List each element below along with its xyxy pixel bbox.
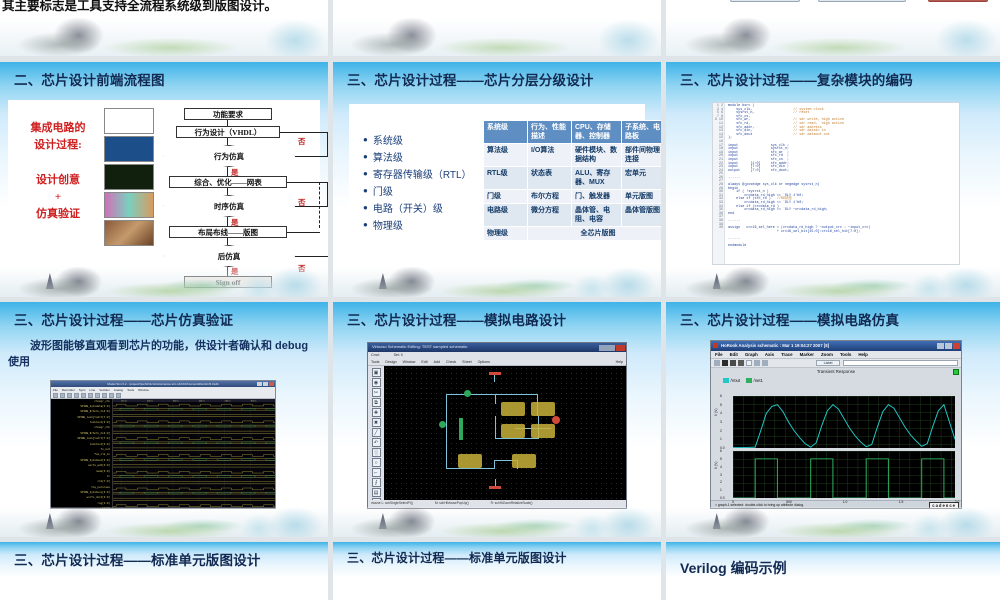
flow-decision-post-sim: 后仿真 <box>163 245 295 267</box>
signal-name[interactable]: fsm_clk_in <box>94 453 110 456</box>
split-icon[interactable] <box>754 360 760 366</box>
signal-name[interactable]: reg[2:0] <box>98 502 110 505</box>
wire-name-icon[interactable]: ⨍ <box>372 478 381 487</box>
toolbar[interactable] <box>51 392 275 399</box>
signal-name[interactable]: SPIRE_lockjtsdrt[7:0] <box>77 437 110 440</box>
city-skyline-decor <box>666 18 1000 56</box>
signal-name[interactable]: locktest[3:0] <box>90 443 110 446</box>
y-axis-label-top: V (V) <box>714 408 718 416</box>
marker-icon[interactable] <box>116 393 121 398</box>
slide-title: 三、芯片设计过程——复杂模块的编码 <box>680 69 992 89</box>
svg-text:300 ns: 300 ns <box>173 401 179 403</box>
bullet-item: 系统级 <box>363 132 472 149</box>
flow-decision-behavioral-sim: 行为仿真 <box>163 145 295 167</box>
cycle-icon[interactable] <box>762 360 768 366</box>
svg-text:200 ns: 200 ns <box>147 401 153 403</box>
slide-thumbnail-verilog-example[interactable]: Verilog 编码示例 <box>666 542 1000 600</box>
bullet-item: 寄存器传输级（RTL） <box>363 166 472 183</box>
y-tick-label: 3 <box>720 473 722 477</box>
slide-title: Verilog 编码示例 <box>680 558 787 578</box>
menu-file[interactable]: File <box>715 352 723 358</box>
partial-slide-3[interactable] <box>666 0 1000 56</box>
menu-design[interactable]: Design <box>385 360 396 364</box>
thumb-gate-schematic <box>104 136 154 162</box>
cmd-label: Cmd: <box>371 353 380 358</box>
button-stub-1[interactable] <box>730 0 800 2</box>
slide-title: 二、芯片设计前端流程图 <box>14 69 320 89</box>
data-series-net1 <box>733 459 955 498</box>
legend-swatch-net1 <box>746 378 752 383</box>
menu-window[interactable]: Window <box>138 388 149 392</box>
y-tick-label: 0.0 <box>720 496 725 500</box>
slide-title: 三、芯片设计过程——芯片分层分级设计 <box>347 69 653 89</box>
table-row: 算法级I/O算法 硬件模块、数据结构部件间物理连接 <box>484 144 662 167</box>
city-skyline-decor <box>0 18 328 56</box>
signal-name[interactable]: SPIRE_byteboot[3:0] <box>80 459 110 462</box>
slide-thumbnail-analog-sim[interactable]: 三、芯片设计过程——模拟电路仿真 HoRook Analysis schemat… <box>666 302 1000 537</box>
slide-title: 三、芯片设计过程——模拟电路设计 <box>347 309 653 329</box>
table-row: 电路级微分方程 晶体管、电阻、电容晶体管版图 <box>484 204 662 227</box>
zoom-icon[interactable]: ◉ <box>372 378 381 387</box>
signal-name[interactable]: Tx_out <box>101 448 110 451</box>
menu-bar[interactable]: Tools Design Window Edit Add Check Sheet… <box>368 359 626 366</box>
menu-file[interactable]: File <box>53 388 58 392</box>
button-stub-accent[interactable] <box>928 0 988 2</box>
copy-icon[interactable]: ⧉ <box>372 398 381 407</box>
menu-add[interactable]: Add <box>434 360 440 364</box>
data-series-Vout <box>733 405 955 448</box>
city-skyline-decor <box>0 507 328 537</box>
menu-sync[interactable]: Sync <box>79 388 86 392</box>
menu-help[interactable]: Help <box>616 360 623 364</box>
y-axis-label-bottom: V (V) <box>714 461 718 469</box>
window-controls[interactable] <box>257 382 274 386</box>
device-nmos-1 <box>501 424 525 438</box>
plot-legend: /Vout /net1 <box>711 376 961 384</box>
svg-text:600 ns: 600 ns <box>251 401 257 403</box>
legend-swatch-vout <box>723 378 729 383</box>
flow-node-place-route: 布局布线——版图 <box>169 226 287 238</box>
net1-curve <box>733 451 955 498</box>
red-caption-line1: 集成电路的 <box>16 120 100 137</box>
slide-body: Virtuoso Schematic Editing: TEST sampled… <box>333 336 661 511</box>
flow-decision-timing-sim: 时序仿真 <box>163 195 295 217</box>
open-icon[interactable] <box>53 393 58 398</box>
thumb-netlist <box>104 164 154 190</box>
tool-palette[interactable]: ▣◉✂⧉✚✖╱↶░○⌐⨍▤◎▭⌕ <box>368 366 384 500</box>
virtuoso-schematic-window[interactable]: Virtuoso Schematic Editing: TEST sampled… <box>367 342 627 509</box>
table-row: 系统级 行为、性能描述 CPU、存储器、控制器 子系统、电路板 <box>484 121 662 144</box>
signal-name[interactable]: SPIRE_lockjtsdrt[7:0] <box>77 416 110 419</box>
menu-line[interactable]: Line <box>90 388 96 392</box>
cut-icon[interactable] <box>67 393 72 398</box>
slide-thumbnail-verilog-code[interactable]: 三、芯片设计过程——复杂模块的编码 1 2 3 4 5 6 7 8 9 10 1… <box>666 62 1000 297</box>
strip-icon[interactable] <box>738 360 744 366</box>
maximize-icon[interactable] <box>263 382 268 386</box>
red-caption-line3: 设计创意 <box>16 172 100 189</box>
slide-thumbnail-grid: 其主要标志是工具支持全流程系统级到版图设计。 二、芯片设计前端流程图 集成电路的… <box>0 0 1000 600</box>
wire <box>446 468 494 469</box>
paste-icon[interactable] <box>81 393 86 398</box>
signal-name[interactable]: tlq_parerase <box>91 486 110 489</box>
port-output <box>552 416 560 424</box>
window-titlebar[interactable]: Virtuoso Schematic Editing: TEST sampled… <box>368 343 626 352</box>
cadence-waveform-window[interactable]: HoRook Analysis schematic : Mar 1 19:04:… <box>710 340 962 509</box>
y-tick-label: 6 <box>720 394 722 398</box>
signal-name[interactable]: clk[7:0] <box>98 480 110 483</box>
wire <box>495 438 539 439</box>
svg-text:400 ns: 400 ns <box>199 401 205 403</box>
delete-icon[interactable]: ✖ <box>372 418 381 427</box>
minimize-maximize-icon[interactable] <box>599 345 615 351</box>
slide-body: 波形图能够直观看到芯片的功能，供设计者确认和 debug 使用 Model Si… <box>0 336 328 511</box>
partial-slide-body-text: 其主要标志是工具支持全流程系统级到版图设计。 <box>2 0 277 14</box>
toolbar[interactable]: Label <box>711 359 961 368</box>
thumbnail-strip <box>104 108 154 248</box>
menu-tools[interactable]: Tools <box>371 360 379 364</box>
menu-help[interactable]: Help <box>858 352 868 358</box>
red-caption-line2: 设计过程: <box>16 137 100 154</box>
grid-icon[interactable]: ░ <box>372 448 381 457</box>
menu-options[interactable]: Options <box>478 360 490 364</box>
code-listing-panel: 1 2 3 4 5 6 7 8 9 10 11 12 13 14 15 16 1… <box>712 102 960 265</box>
instance-icon[interactable]: ▤ <box>372 488 381 497</box>
signal-name[interactable]: locktest[3:0] <box>90 421 110 424</box>
slide-thumbnail-hierarchy-table[interactable]: 三、芯片设计过程——芯片分层分级设计 系统级 算法级 寄存器传输级（RTL） 门… <box>333 62 661 297</box>
wire <box>495 394 496 404</box>
run-icon[interactable] <box>102 393 107 398</box>
y-tick-label: 5 <box>720 457 722 461</box>
svg-text:100 ns: 100 ns <box>121 401 127 403</box>
flow-node-behavioral-design: 行为设计（VHDL） <box>176 126 280 138</box>
signal-name[interactable]: SPIRE_R/bclk_CLK:0] <box>80 410 110 413</box>
slide-thumbnail-chip-sim-verify[interactable]: 三、芯片设计过程——芯片仿真验证 波形图能够直观看到芯片的功能，供设计者确认和 … <box>0 302 328 537</box>
slide-title: 三、芯片设计过程——标准单元版图设计 <box>14 549 320 569</box>
device-resistor <box>459 418 463 440</box>
menu-edit[interactable]: Edit <box>730 352 738 358</box>
port-net <box>464 390 471 397</box>
menu-axis[interactable]: Axis <box>765 352 774 358</box>
bullet-item: 物理级 <box>363 217 472 234</box>
design-level-bullets: 系统级 算法级 寄存器传输级（RTL） 门级 电路（开关）级 物理级 <box>363 132 472 234</box>
close-icon[interactable] <box>269 382 274 386</box>
slide-title: 三、芯片设计过程——模拟电路仿真 <box>680 309 992 329</box>
modelsim-window[interactable]: Model Sim 6.2 - /project/hpc/t2/t1c/sim/… <box>50 380 276 509</box>
signal-name[interactable]: SPIRE_bytedata[3:0] <box>80 405 110 408</box>
menu-tools[interactable]: Tools <box>127 388 134 392</box>
curve-icon[interactable] <box>722 360 728 366</box>
slide-thumbnail-std-cell-layout-1[interactable]: 三、芯片设计过程——标准单元版图设计 <box>0 542 328 600</box>
y-tick-label: 2 <box>720 429 722 433</box>
x-tick-label: 500 <box>786 500 792 504</box>
window-controls[interactable] <box>937 343 960 349</box>
menu-vectilon[interactable]: Vectilon <box>99 388 110 392</box>
city-skyline-decor <box>666 267 1000 297</box>
line-icon[interactable]: ╱ <box>372 428 381 437</box>
menu-marker[interactable]: Marker <box>800 352 814 358</box>
abstraction-level-table: 系统级 行为、性能描述 CPU、存储器、控制器 子系统、电路板 算法级I/O算法… <box>483 120 661 241</box>
label-input[interactable] <box>843 360 958 366</box>
signal-name[interactable]: SPIRE_bytebuss[3:0] <box>80 491 110 494</box>
bullet-item: 算法级 <box>363 149 472 166</box>
print-icon[interactable] <box>714 360 720 366</box>
signal-name[interactable]: wsrTx_sbit[3:0] <box>87 496 110 499</box>
slide-body: 系统级 算法级 寄存器传输级（RTL） 门级 电路（开关）级 物理级 系统级 行… <box>333 96 661 271</box>
command-row[interactable]: Cmd: Sel: 0 <box>368 352 626 359</box>
label-toggle-button[interactable]: Label <box>816 360 840 366</box>
waveform-canvas[interactable]: clkmgr_clkSPIRE_bytedata[3:0]SPIRE_R/bcl… <box>51 399 275 508</box>
x-tick-label: 1.5 <box>899 500 904 504</box>
legend-item-vout: /Vout <box>723 378 740 383</box>
signal-name[interactable]: node[3:0] <box>96 470 110 473</box>
thumb-die-photo <box>104 220 154 246</box>
menu-edit[interactable]: Edit <box>421 360 427 364</box>
maximize-icon[interactable] <box>945 343 952 349</box>
city-skyline-decor <box>666 507 1000 537</box>
flow-node-synthesis: 综合、优化——网表 <box>169 176 287 188</box>
slide-title: 三、芯片设计过程——标准单元版图设计 <box>347 549 653 566</box>
city-skyline-decor <box>333 267 661 297</box>
cursor-icon[interactable] <box>109 393 114 398</box>
wire <box>494 374 495 382</box>
window-title: Model Sim 6.2 - /project/hpc/t2/t1c/sim/… <box>107 382 218 386</box>
window-titlebar[interactable]: Model Sim 6.2 - /project/hpc/t2/t1c/sim/… <box>51 381 275 387</box>
table-row: 门级布尔方程 门、触发器单元版图 <box>484 190 662 204</box>
menu-analog[interactable]: Analog <box>114 388 123 392</box>
save-icon[interactable] <box>60 393 65 398</box>
grid-icon[interactable] <box>730 360 736 366</box>
slide-thumbnail-analog-schematic[interactable]: 三、芯片设计过程——模拟电路设计 Virtuoso Schematic Edit… <box>333 302 661 537</box>
y-tick-label: 6 <box>720 449 722 453</box>
undo-icon[interactable]: ↶ <box>372 438 381 447</box>
vout-curve <box>733 396 955 448</box>
pin-icon[interactable]: ○ <box>372 458 381 467</box>
legend-item-net1: /net1 <box>746 378 763 383</box>
device-pmos-2 <box>531 402 555 416</box>
partial-slide-2[interactable] <box>333 0 661 56</box>
menu-bar[interactable]: File Edit Graph Axis Trace Marker Zoom T… <box>711 351 961 359</box>
slide-thumbnail-flowchart[interactable]: 二、芯片设计前端流程图 集成电路的 设计过程: 设计创意 + 仿真验证 功 <box>0 62 328 297</box>
red-caption-line4: + <box>16 189 100 206</box>
move-icon[interactable]: ✚ <box>372 408 381 417</box>
transient-response-plot-net1[interactable] <box>733 451 955 498</box>
svg-text:500 ns: 500 ns <box>225 401 231 403</box>
menu-window[interactable]: Window <box>403 360 416 364</box>
slide-subtitle: 波形图能够直观看到芯片的功能，供设计者确认和 debug 使用 <box>8 338 322 370</box>
window-titlebar[interactable]: HoRook Analysis schematic : Mar 1 19:04:… <box>711 341 961 351</box>
bullet-item: 门级 <box>363 183 472 200</box>
signal-name[interactable]: clkmgr_clk <box>94 400 110 403</box>
flowchart-panel: 集成电路的 设计过程: 设计创意 + 仿真验证 功能要求 行为设计（VHDL） <box>8 100 320 267</box>
signal-name[interactable]: tx <box>107 475 110 478</box>
wire <box>494 460 495 469</box>
transient-response-plot-vout[interactable] <box>733 396 955 448</box>
window-title: HoRook Analysis schematic : Mar 1 19:04:… <box>721 343 829 348</box>
table-row: RTL级状态表 ALU、寄存器、MUX宏单元 <box>484 167 662 190</box>
wire <box>446 394 447 468</box>
red-caption-line5: 仿真验证 <box>16 206 100 223</box>
menu-trace[interactable]: Trace <box>781 352 792 358</box>
waveform-plot[interactable]: 100 ns200 ns300 ns400 ns500 ns600 ns <box>113 399 275 508</box>
code-line-numbers: 1 2 3 4 5 6 7 8 9 10 11 12 13 14 15 16 1… <box>713 103 725 264</box>
bullet-item: 电路（开关）级 <box>363 200 472 217</box>
zoom-out-icon[interactable] <box>95 393 100 398</box>
signal-name-list[interactable]: clkmgr_clkSPIRE_bytedata[3:0]SPIRE_R/bcl… <box>51 399 113 508</box>
code-text: module bsrc ( sys_clk, // system clock s… <box>725 103 959 264</box>
flow-node-requirements: 功能要求 <box>184 108 272 120</box>
x-tick-label: 1.0 <box>843 500 848 504</box>
signal-name[interactable]: SPIRE_R/bclk_CLK:0] <box>80 432 110 435</box>
slide-title: 三、芯片设计过程——芯片仿真验证 <box>14 309 320 329</box>
wire-icon[interactable]: ⌐ <box>372 468 381 477</box>
blank-icon[interactable] <box>746 360 752 366</box>
select-icon[interactable]: ▣ <box>372 368 381 377</box>
city-skyline-decor <box>333 18 661 56</box>
app-icon <box>713 343 718 348</box>
window-title: Virtuoso Schematic Editing: TEST sampled… <box>372 344 467 349</box>
port-input <box>439 421 446 428</box>
y-tick-label: 3 <box>720 420 722 424</box>
plot-caption: Transient Response <box>711 368 961 376</box>
wire <box>446 394 538 395</box>
thumb-layout <box>104 192 154 218</box>
signal-name[interactable]: wsrCs_wdt[3:0] <box>88 464 110 467</box>
minimize-icon[interactable] <box>937 343 944 349</box>
city-skyline-decor <box>0 267 328 297</box>
menu-sheet[interactable]: Sheet <box>462 360 471 364</box>
zoom-in-icon[interactable] <box>88 393 93 398</box>
close-icon[interactable] <box>953 343 960 349</box>
menu-zoom[interactable]: Zoom <box>821 352 833 358</box>
thumb-vhdl-code <box>104 108 154 134</box>
menu-reminder[interactable]: Reminder <box>62 388 75 392</box>
branch-no-1: 否 <box>298 136 306 147</box>
stretch-icon[interactable]: ✂ <box>372 388 381 397</box>
device-vdd <box>489 372 501 375</box>
y-tick-label: 4 <box>720 411 722 415</box>
slide-body: 1 2 3 4 5 6 7 8 9 10 11 12 13 14 15 16 1… <box>666 96 1000 271</box>
y-tick-label: 1 <box>720 437 722 441</box>
status-indicator-icon <box>953 369 959 375</box>
x-tick-label: 2.0 <box>955 500 960 504</box>
partial-slide-text[interactable]: 其主要标志是工具支持全流程系统级到版图设计。 <box>0 0 328 56</box>
waveform-traces: 100 ns200 ns300 ns400 ns500 ns600 ns <box>113 399 275 508</box>
y-tick-label: 1 <box>720 488 722 492</box>
device-nmos-2 <box>531 424 555 438</box>
device-pmos-1 <box>501 402 525 416</box>
y-tick-label: 2 <box>720 480 722 484</box>
sel-label: Sel: 0 <box>394 353 403 358</box>
slide-body: 集成电路的 设计过程: 设计创意 + 仿真验证 功能要求 行为设计（VHDL） <box>0 96 328 271</box>
menu-tools[interactable]: Tools <box>840 352 851 358</box>
y-tick-label: 5 <box>720 403 722 407</box>
device-nmos-3 <box>458 454 482 468</box>
device-gnd <box>489 486 501 489</box>
wire <box>495 416 496 438</box>
city-skyline-decor <box>333 507 661 537</box>
menu-check[interactable]: Check <box>446 360 456 364</box>
x-tick-label: 0 <box>732 500 734 504</box>
content-panel: 系统级 算法级 寄存器传输级（RTL） 门级 电路（开关）级 物理级 系统级 行… <box>349 104 645 267</box>
device-nmos-4 <box>512 454 536 468</box>
button-stub-2[interactable] <box>818 0 906 2</box>
menu-graph[interactable]: Graph <box>745 352 758 358</box>
copy-icon[interactable] <box>74 393 79 398</box>
signal-name[interactable]: clkmgr_clk <box>94 426 110 429</box>
close-icon[interactable] <box>616 345 625 351</box>
slide-body: HoRook Analysis schematic : Mar 1 19:04:… <box>666 336 1000 511</box>
slide-thumbnail-std-cell-layout-2[interactable]: 三、芯片设计过程——标准单元版图设计 <box>333 542 661 600</box>
y-tick-label: 4 <box>720 465 722 469</box>
schematic-canvas[interactable] <box>384 366 626 500</box>
table-row: 物理级 全芯片版图 <box>484 227 662 241</box>
minimize-icon[interactable] <box>257 382 262 386</box>
